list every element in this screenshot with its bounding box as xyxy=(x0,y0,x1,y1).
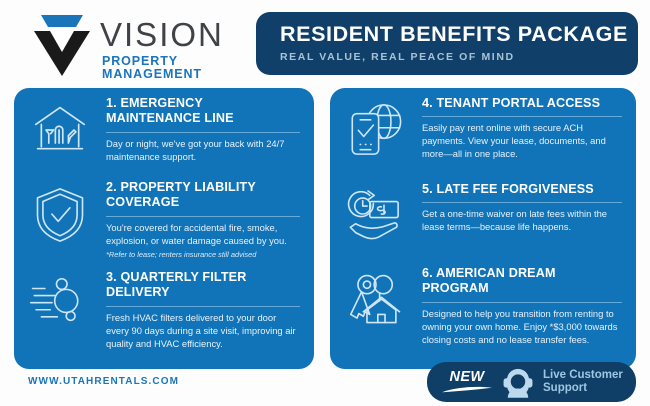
benefit-card: 2. PROPERTY LIABILITY COVERAGE You're co… xyxy=(14,180,314,259)
headset-agent-icon xyxy=(501,367,535,398)
benefit-card: 4. TENANT PORTAL ACCESS Easily pay rent … xyxy=(330,96,636,161)
benefit-text: Get a one-time waiver on late fees withi… xyxy=(422,208,622,234)
house-tools-icon xyxy=(14,96,106,158)
benefit-title: 3. QUARTERLY FILTER DELIVERY xyxy=(106,270,300,301)
benefit-card: 5. LATE FEE FORGIVENESS Get a one-time w… xyxy=(330,182,636,240)
page-title: RESIDENT BENEFITS PACKAGE xyxy=(280,23,638,46)
benefit-card: 6. AMERICAN DREAM PROGRAM Designed to he… xyxy=(330,266,636,347)
header: VISION PROPERTY MANAGEMENT RESIDENT BENE… xyxy=(0,0,650,86)
new-badge: NEW xyxy=(435,370,499,394)
benefit-title: 4. TENANT PORTAL ACCESS xyxy=(422,96,622,111)
benefit-note: *Refer to lease; renters insurance still… xyxy=(106,250,300,260)
shield-check-icon xyxy=(14,180,106,244)
new-label: NEW xyxy=(449,370,484,385)
live-support-label: Live Customer Support xyxy=(543,369,636,395)
benefit-text: You're covered for accidental fire, smok… xyxy=(106,222,300,248)
live-support-badge[interactable]: NEW Live Customer Support xyxy=(427,362,636,402)
benefit-card-body: 6. AMERICAN DREAM PROGRAM Designed to he… xyxy=(422,266,636,347)
divider xyxy=(106,306,300,307)
benefit-card-body: 4. TENANT PORTAL ACCESS Easily pay rent … xyxy=(422,96,636,161)
divider xyxy=(106,216,300,217)
brand-tagline: PROPERTY MANAGEMENT xyxy=(102,55,253,80)
benefit-text: Day or night, we've got your back with 2… xyxy=(106,138,300,164)
air-filter-icon xyxy=(14,270,106,324)
brand-wordmark: VISION xyxy=(100,18,224,51)
infographic-page: VISION PROPERTY MANAGEMENT RESIDENT BENE… xyxy=(0,0,650,406)
benefit-text: Fresh HVAC filters delivered to your doo… xyxy=(106,312,300,351)
website-url[interactable]: WWW.UTAHRENTALS.COM xyxy=(28,376,179,387)
divider xyxy=(422,116,622,117)
brand-logo: VISION PROPERTY MANAGEMENT xyxy=(28,8,253,78)
divider xyxy=(422,302,622,303)
clock-money-hand-icon xyxy=(330,182,422,240)
benefit-card-body: 3. QUARTERLY FILTER DELIVERY Fresh HVAC … xyxy=(106,270,314,351)
swoosh-icon xyxy=(441,385,493,394)
benefit-card-body: 1. EMERGENCY MAINTENANCE LINE Day or nig… xyxy=(106,96,314,164)
benefit-card: 3. QUARTERLY FILTER DELIVERY Fresh HVAC … xyxy=(14,270,314,351)
divider xyxy=(106,132,300,133)
benefit-card-body: 2. PROPERTY LIABILITY COVERAGE You're co… xyxy=(106,180,314,259)
header-banner: RESIDENT BENEFITS PACKAGE REAL VALUE, RE… xyxy=(256,12,638,75)
benefit-card-body: 5. LATE FEE FORGIVENESS Get a one-time w… xyxy=(422,182,636,234)
benefit-card: 1. EMERGENCY MAINTENANCE LINE Day or nig… xyxy=(14,96,314,164)
benefit-title: 6. AMERICAN DREAM PROGRAM xyxy=(422,266,622,297)
phone-globe-icon xyxy=(330,96,422,157)
benefits-panel-right: 4. TENANT PORTAL ACCESS Easily pay rent … xyxy=(330,88,636,369)
vision-logo-icon xyxy=(28,12,96,78)
benefit-text: Easily pay rent online with secure ACH p… xyxy=(422,122,622,161)
page-subtitle: REAL VALUE, REAL PEACE OF MIND xyxy=(280,51,638,63)
keys-house-icon xyxy=(330,266,422,328)
benefit-title: 5. LATE FEE FORGIVENESS xyxy=(422,182,622,197)
divider xyxy=(422,202,622,203)
benefit-text: Designed to help you transition from ren… xyxy=(422,308,622,347)
benefit-title: 2. PROPERTY LIABILITY COVERAGE xyxy=(106,180,300,211)
benefits-panel-left: 1. EMERGENCY MAINTENANCE LINE Day or nig… xyxy=(14,88,314,369)
benefit-title: 1. EMERGENCY MAINTENANCE LINE xyxy=(106,96,300,127)
